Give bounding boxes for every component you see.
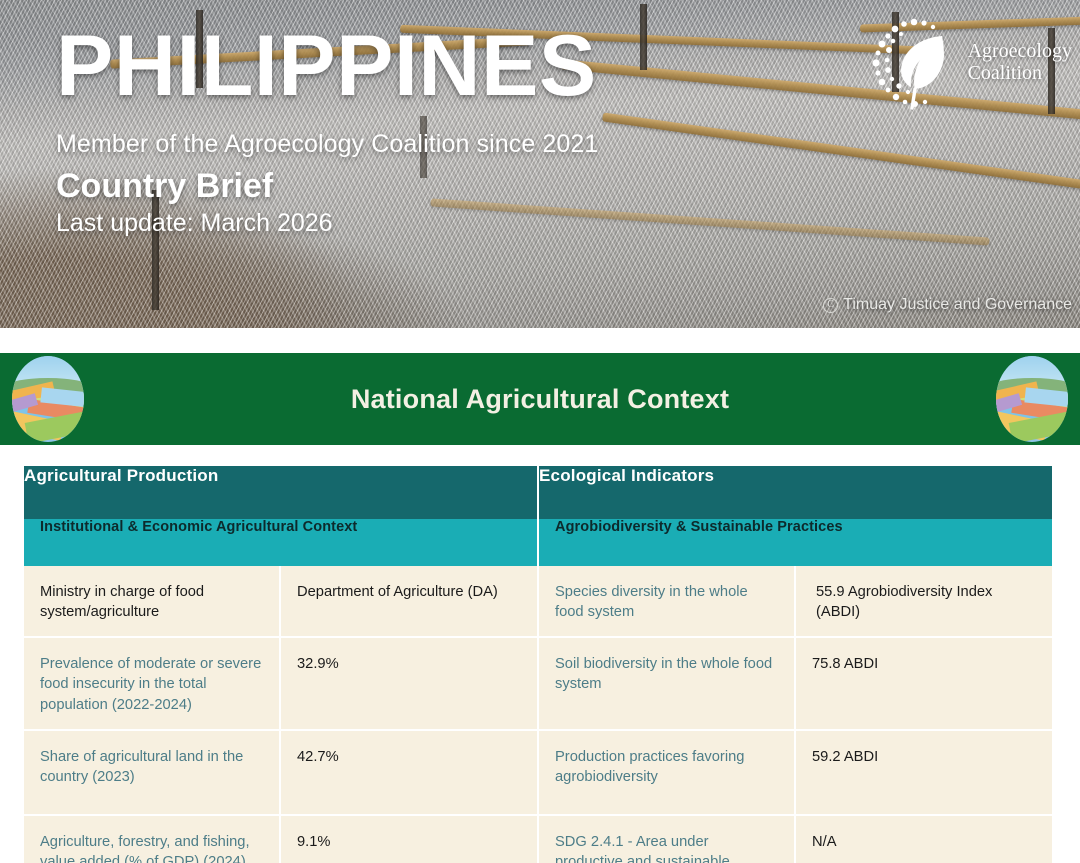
landscape-circle-icon xyxy=(996,356,1068,442)
indicator-value: 32.9% xyxy=(280,637,538,729)
indicator-label: Ministry in charge of food system/agricu… xyxy=(24,566,280,637)
logo-line-1: Agroecology xyxy=(968,41,1072,63)
indicator-label[interactable]: SDG 2.4.1 - Area under productive and su… xyxy=(538,815,795,863)
national-agricultural-context-table: Agricultural Production Ecological Indic… xyxy=(24,466,1052,863)
table-sub-header-row: Institutional & Economic Agricultural Co… xyxy=(24,519,1052,566)
leaf-with-dots-icon xyxy=(864,14,962,112)
document-type-title: Country Brief xyxy=(56,167,598,206)
indicator-value: 59.2 ABDI xyxy=(795,730,1052,815)
photo-credit-text: Timuay Justice and Governance xyxy=(843,296,1072,314)
sub-header-institutional-economic-context: Institutional & Economic Agricultural Co… xyxy=(24,519,538,566)
page-title: PHILIPPINES xyxy=(56,24,598,108)
agroecology-coalition-logo[interactable]: Agroecology Coalition xyxy=(864,14,1072,112)
indicator-value: N/A xyxy=(795,815,1052,863)
indicator-value: 42.7% xyxy=(280,730,538,815)
column-header-agricultural-production: Agricultural Production xyxy=(24,466,538,519)
indicator-label[interactable]: Prevalence of moderate or severe food in… xyxy=(24,637,280,729)
membership-subtitle: Member of the Agroecology Coalition sinc… xyxy=(56,130,598,159)
table-main-header-row: Agricultural Production Ecological Indic… xyxy=(24,466,1052,519)
table-row: Share of agricultural land in the countr… xyxy=(24,730,1052,815)
copyright-icon: C xyxy=(823,298,838,313)
hero-banner: PHILIPPINES Member of the Agroecology Co… xyxy=(0,0,1080,328)
indicator-label[interactable]: Species diversity in the whole food syst… xyxy=(538,566,795,637)
column-header-ecological-indicators: Ecological Indicators xyxy=(538,466,1052,519)
table-row: Ministry in charge of food system/agricu… xyxy=(24,566,1052,637)
logo-line-2: Coalition xyxy=(968,63,1072,85)
indicator-value: 55.9 Agrobiodiversity Index (ABDI) xyxy=(795,566,1052,637)
photo-credit: C Timuay Justice and Governance xyxy=(823,296,1072,314)
indicator-value: 75.8 ABDI xyxy=(795,637,1052,729)
section-title: National Agricultural Context xyxy=(351,384,729,415)
landscape-circle-icon xyxy=(12,356,84,442)
indicator-value: Department of Agriculture (DA) xyxy=(280,566,538,637)
national-agricultural-context-table-wrapper: Agricultural Production Ecological Indic… xyxy=(24,466,1052,863)
sub-header-agrobiodiversity-sustainable-practices: Agrobiodiversity & Sustainable Practices xyxy=(538,519,1052,566)
indicator-label[interactable]: Share of agricultural land in the countr… xyxy=(24,730,280,815)
table-row: Prevalence of moderate or severe food in… xyxy=(24,637,1052,729)
indicator-label[interactable]: Production practices favoring agrobiodiv… xyxy=(538,730,795,815)
indicator-value: 9.1% xyxy=(280,815,538,863)
indicator-label[interactable]: Soil biodiversity in the whole food syst… xyxy=(538,637,795,729)
hero-text-block: PHILIPPINES Member of the Agroecology Co… xyxy=(56,24,598,238)
section-banner-national-agricultural-context: National Agricultural Context xyxy=(0,353,1080,445)
logo-wordmark: Agroecology Coalition xyxy=(968,41,1072,84)
last-update-label: Last update: March 2026 xyxy=(56,209,598,238)
indicator-label[interactable]: Agriculture, forestry, and fishing, valu… xyxy=(24,815,280,863)
wooden-post-icon xyxy=(640,4,647,70)
table-row: Agriculture, forestry, and fishing, valu… xyxy=(24,815,1052,863)
